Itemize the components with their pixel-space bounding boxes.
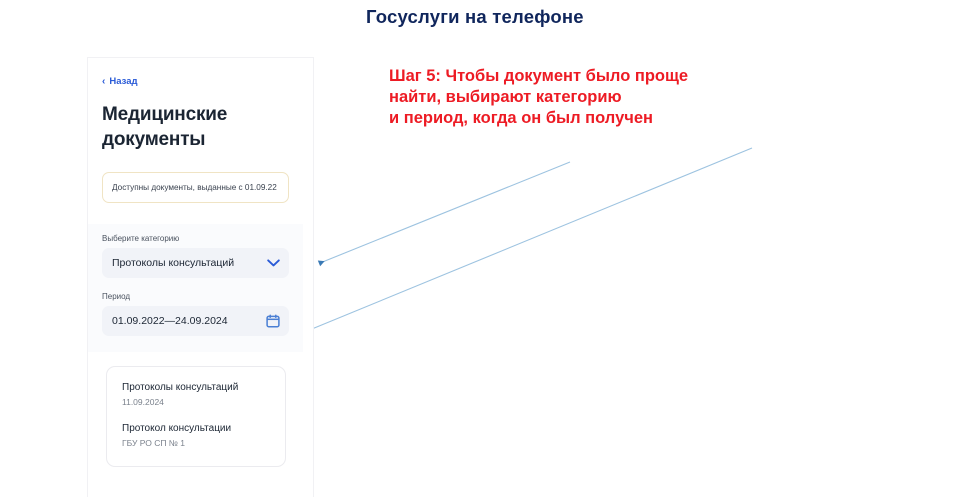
category-field-label: Выберите категорию <box>102 234 289 243</box>
category-select-value: Протоколы консультаций <box>112 257 234 269</box>
app-screen: ‹ Назад Медицинские документы Доступны д… <box>88 58 303 497</box>
field-spacer <box>88 282 303 292</box>
back-button-label: Назад <box>109 76 137 87</box>
step-annotation: Шаг 5: Чтобы документ было проще найти, … <box>389 66 688 129</box>
filters-panel: Выберите категорию Протоколы консультаци… <box>88 224 303 352</box>
document-group-date: 11.09.2024 <box>122 397 270 407</box>
list-item[interactable]: Протоколы консультаций 11.09.2024 <box>122 382 270 407</box>
annotation-line-3: и период, когда он был получен <box>389 108 688 129</box>
phone-mockup: ‹ Назад Медицинские документы Доступны д… <box>88 58 313 497</box>
annotation-line-2: найти, выбирают категорию <box>389 87 688 108</box>
back-button[interactable]: ‹ Назад <box>102 76 138 87</box>
category-field-group: Выберите категорию Протоколы консультаци… <box>102 234 289 278</box>
availability-notice-text: Доступны документы, выданные с 01.09.22 <box>112 183 277 192</box>
chevron-down-icon[interactable] <box>267 259 280 267</box>
period-field-label: Период <box>102 292 289 301</box>
document-title: Протокол консультации <box>122 423 270 434</box>
document-group-title: Протоколы консультаций <box>122 382 270 393</box>
period-input-value: 01.09.2022—24.09.2024 <box>112 315 228 327</box>
availability-notice: Доступны документы, выданные с 01.09.22 <box>102 172 289 203</box>
annotation-line-1: Шаг 5: Чтобы документ было проще <box>389 66 688 87</box>
page-title: Госуслуги на телефоне <box>366 6 584 28</box>
arrow-to-period-line <box>307 148 752 331</box>
document-organization: ГБУ РО СП № 1 <box>122 438 270 448</box>
documents-result-card[interactable]: Протоколы консультаций 11.09.2024 Проток… <box>106 366 286 467</box>
category-select[interactable]: Протоколы консультаций <box>102 248 289 278</box>
list-item[interactable]: Протокол консультации ГБУ РО СП № 1 <box>122 423 270 448</box>
period-input[interactable]: 01.09.2022—24.09.2024 <box>102 306 289 336</box>
screen-heading: Медицинские документы <box>102 102 282 152</box>
calendar-icon[interactable] <box>266 314 280 328</box>
period-field-group: Период 01.09.2022—24.09.2024 <box>102 292 289 336</box>
slide-canvas: Госуслуги на телефоне Шаг 5: Чтобы докум… <box>0 0 960 497</box>
chevron-left-icon: ‹ <box>102 77 105 87</box>
arrow-to-category-line <box>320 162 570 263</box>
